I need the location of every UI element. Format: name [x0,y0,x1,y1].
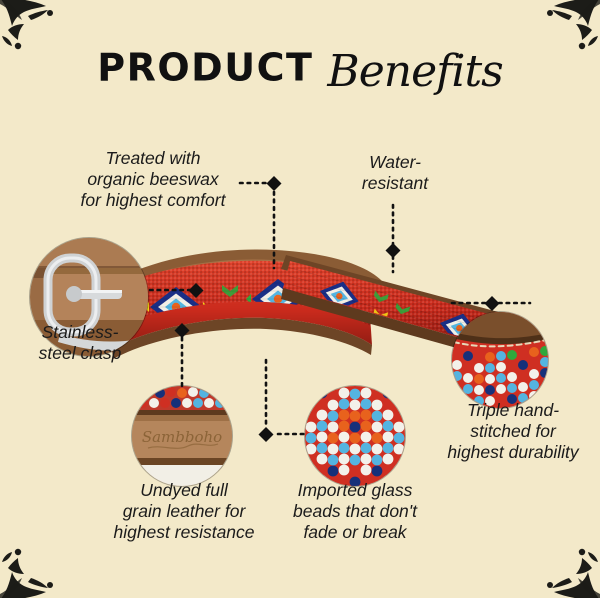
detail-circle-stitching [452,312,548,408]
callout-label-leather: Undyed full grain leather for highest re… [98,480,270,543]
detail-circle-beads [305,386,405,486]
callout-label-stitching: Triple hand- stitched for highest durabi… [430,400,596,463]
infographic-canvas: PRODUCTBenefits [0,0,600,598]
callout-label-clasp: Stainless- steel clasp [14,322,146,364]
title-script: Benefits [327,46,502,97]
callout-label-beeswax: Treated with organic beeswax for highest… [62,148,244,211]
brand-emboss-text: Sambboho [142,428,222,446]
callout-label-beads: Imported glass beads that don't fade or … [272,480,438,543]
diamond-marker-beeswax [267,176,282,191]
title-bold: PRODUCT [97,46,313,90]
corner-ornament-icon [530,530,600,598]
callout-label-water-resistant: Water- resistant [337,152,453,194]
page-title: PRODUCTBenefits [0,42,600,93]
corner-ornament-icon [0,530,70,598]
detail-circle-leather: Sambboho [132,386,232,486]
